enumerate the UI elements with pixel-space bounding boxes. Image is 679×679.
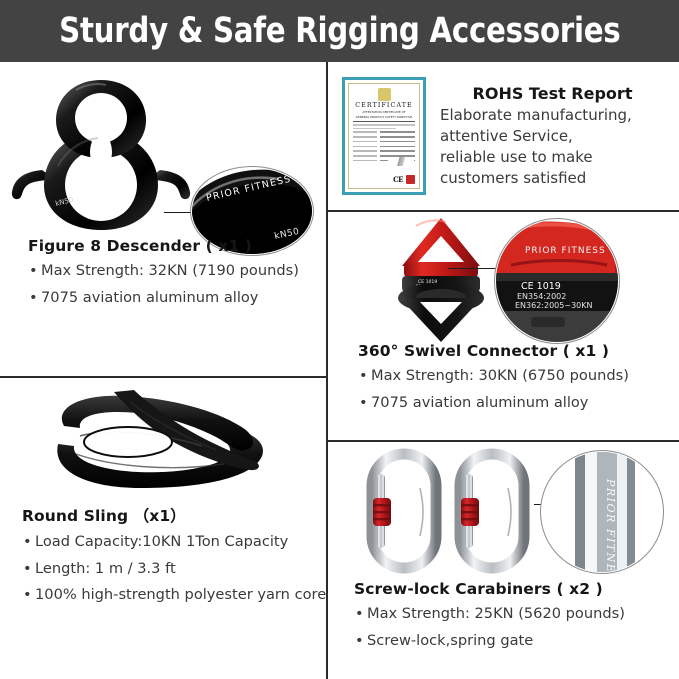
certificate-rule [353, 121, 415, 122]
carabiner-text-block: Screw-lock Carabiners ( x2 ) •Max Streng… [354, 580, 679, 657]
swivel-magnifier-circle: PRIOR FITNESS CE 1019 EN354:2002 EN362:2… [494, 218, 620, 344]
table-row [353, 136, 415, 138]
list-item: •Max Strength: 25KN (5620 pounds) [354, 604, 679, 624]
certificate-subtitle-2: GENERAL PRODUCT SAFETY DIRECTIVE [353, 115, 415, 119]
sling-text-block: Round Sling （x1） •Load Capacity:10KN 1To… [22, 504, 334, 612]
certification-body-logo-icon [406, 175, 415, 184]
rohs-line-4: customers satisfied [440, 168, 665, 189]
swivel-spec-1: Max Strength: 30KN (6750 pounds) [371, 367, 629, 384]
bullet-icon: • [355, 631, 364, 651]
bullet-icon: • [29, 261, 38, 281]
carabiner-spec-list: •Max Strength: 25KN (5620 pounds) •Screw… [354, 604, 679, 650]
bullet-icon: • [29, 288, 38, 308]
svg-text:EN354:2002: EN354:2002 [517, 292, 566, 301]
certificate-footer-marks: CE [353, 175, 415, 184]
bullet-icon: • [359, 393, 368, 413]
header-banner: Sturdy & Safe Rigging Accessories [0, 0, 679, 62]
round-sling-icon [18, 384, 308, 500]
table-row [353, 150, 415, 152]
carabiner-spec-1: Max Strength: 25KN (5620 pounds) [367, 605, 625, 622]
swivel-text-block: 360° Swivel Connector ( x1 ) •Max Streng… [358, 342, 679, 419]
list-item: •Length: 1 m / 3.3 ft [22, 559, 334, 579]
list-item: •100% high-strength polyester yarn core [22, 585, 334, 605]
swivel-title: 360° Swivel Connector ( x1 ) [358, 342, 679, 360]
rohs-title: ROHS Test Report [440, 84, 665, 103]
field-label-bar [353, 131, 377, 133]
rohs-text-block: ROHS Test Report Elaborate manufacturing… [440, 84, 665, 189]
panel-screw-lock-carabiners: PRIOR FITNESS Screw-lock Carabiners ( x2… [328, 442, 679, 679]
sling-title: Round Sling （x1） [22, 504, 334, 526]
field-label-bar [353, 160, 377, 162]
bullet-icon: • [23, 532, 32, 552]
rohs-row: CERTIFICATE ATTESTATION CERTIFICATE OF G… [328, 62, 679, 210]
field-label-bar [353, 155, 377, 157]
swivel-spec-2: 7075 aviation aluminum alloy [371, 394, 588, 411]
rohs-line-3: reliable use to make [440, 147, 665, 168]
table-row [353, 141, 415, 143]
certificate-thumbnail: CERTIFICATE ATTESTATION CERTIFICATE OF G… [342, 77, 426, 195]
rohs-line-2: attentive Service, [440, 126, 665, 147]
field-value-bar [380, 150, 415, 152]
list-item: •7075 aviation aluminum alloy [358, 393, 679, 413]
ce-mark-icon: CE [393, 175, 403, 184]
figure-8-descender-icon: kN50 [6, 74, 196, 234]
figure-8-spec-list: •Max Strength: 32KN (7190 pounds) •7075 … [28, 261, 328, 307]
table-row [353, 131, 415, 133]
carabiner-magnifier-circle: PRIOR FITNESS [540, 450, 664, 574]
field-label-bar [353, 146, 377, 148]
sling-spec-1: Load Capacity:10KN 1Ton Capacity [35, 533, 288, 550]
screw-lock-carabiners-icon [360, 448, 560, 574]
list-item: •Max Strength: 30KN (6750 pounds) [358, 366, 679, 386]
sling-spec-2: Length: 1 m / 3.3 ft [35, 560, 176, 577]
field-value-bar [380, 131, 415, 133]
figure-8-title: Figure 8 Descender ( x1 ) [28, 237, 328, 255]
sling-spec-list: •Load Capacity:10KN 1Ton Capacity •Lengt… [22, 532, 334, 605]
content-grid: kN50 PRIOR FITNESS kN50 [0, 62, 679, 679]
table-row [353, 146, 415, 148]
bullet-icon: • [23, 559, 32, 579]
product-infographic: Sturdy & Safe Rigging Accessories [0, 0, 679, 679]
certificate-heading: CERTIFICATE [353, 102, 415, 109]
svg-text:EN362:2005~30KN: EN362:2005~30KN [515, 301, 592, 310]
certificate-paragraph-line [353, 124, 415, 126]
certificate-crest-icon [378, 88, 391, 101]
certificate-page: CERTIFICATE ATTESTATION CERTIFICATE OF G… [348, 83, 420, 189]
panel-swivel-connector: CE 1019 EN354:2002 [328, 212, 679, 440]
swivel-spec-list: •Max Strength: 30KN (6750 pounds) •7075 … [358, 366, 679, 412]
field-value-bar [380, 141, 415, 143]
certificate-signature-icon [388, 157, 414, 166]
bullet-icon: • [355, 604, 364, 624]
list-item: •Load Capacity:10KN 1Ton Capacity [22, 532, 334, 552]
carabiner-spec-2: Screw-lock,spring gate [367, 632, 533, 649]
svg-text:PRIOR FITNESS: PRIOR FITNESS [525, 246, 606, 256]
figure-8-spec-2: 7075 aviation aluminum alloy [41, 289, 258, 306]
panel-rohs-test-report: CERTIFICATE ATTESTATION CERTIFICATE OF G… [328, 62, 679, 210]
rohs-line-1: Elaborate manufacturing, [440, 105, 665, 126]
field-value-bar [380, 136, 415, 138]
certificate-subtitle-1: ATTESTATION CERTIFICATE OF [353, 110, 415, 114]
svg-text:CE 1019: CE 1019 [521, 281, 561, 292]
certificate-paragraph-line [353, 128, 396, 130]
page-title: Sturdy & Safe Rigging Accessories [59, 11, 620, 51]
carabiner-title: Screw-lock Carabiners ( x2 ) [354, 580, 679, 598]
field-label-bar [353, 136, 377, 138]
field-label-bar [353, 141, 377, 143]
list-item: •Screw-lock,spring gate [354, 631, 679, 651]
figure-8-text-block: Figure 8 Descender ( x1 ) •Max Strength:… [28, 237, 328, 314]
field-label-bar [353, 150, 377, 152]
sling-spec-3: 100% high-strength polyester yarn core [35, 586, 326, 603]
field-value-bar [380, 146, 415, 148]
list-item: •Max Strength: 32KN (7190 pounds) [28, 261, 328, 281]
panel-round-sling: Round Sling （x1） •Load Capacity:10KN 1To… [0, 378, 326, 679]
panel-figure-8-descender: kN50 PRIOR FITNESS kN50 [0, 62, 326, 376]
figure-8-spec-1: Max Strength: 32KN (7190 pounds) [41, 262, 299, 279]
list-item: •7075 aviation aluminum alloy [28, 288, 328, 308]
bullet-icon: • [23, 585, 32, 605]
bullet-icon: • [359, 366, 368, 386]
svg-text:PRIOR FITNESS: PRIOR FITNESS [604, 478, 617, 573]
